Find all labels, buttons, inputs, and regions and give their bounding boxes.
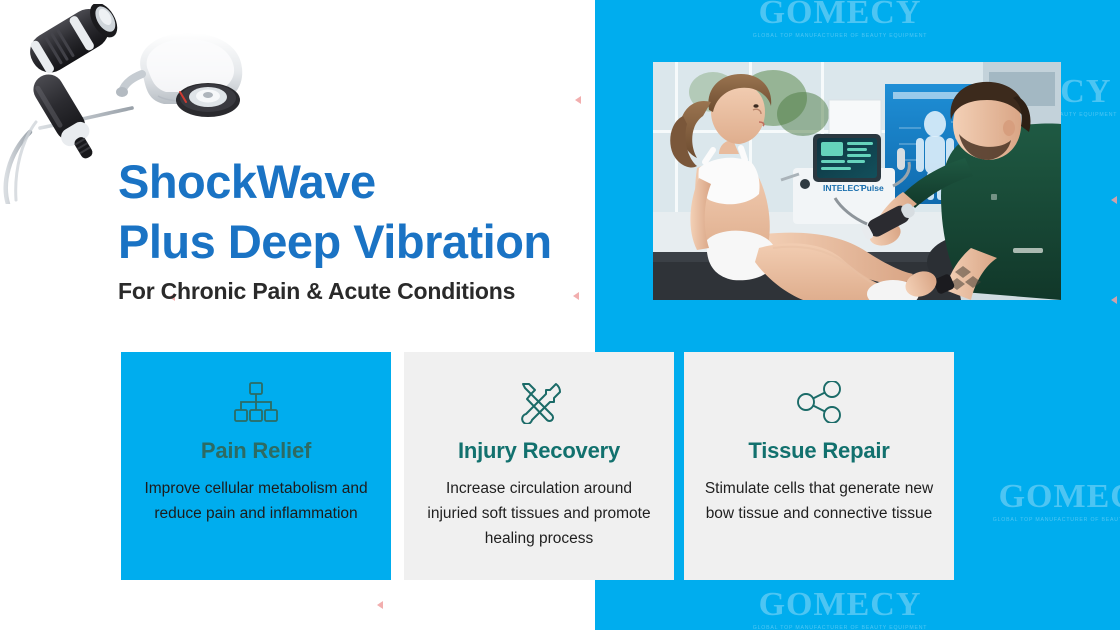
hierarchy-icon: [233, 376, 279, 428]
card-title: Injury Recovery: [458, 438, 620, 464]
svg-text:INTELECT: INTELECT: [823, 183, 865, 193]
decorative-speck: [575, 96, 581, 104]
card-title: Tissue Repair: [748, 438, 889, 464]
decorative-speck: [377, 601, 383, 609]
hero-title-line1: ShockWave: [118, 152, 618, 212]
card-title: Pain Relief: [201, 438, 311, 464]
svg-text:Pulse: Pulse: [861, 183, 884, 193]
card-description: Increase circulation around injuried sof…: [421, 476, 657, 551]
slide-canvas: GOMECY GLOBAL TOP MANUFACTURER OF BEAUTY…: [0, 0, 1120, 630]
feature-card-tissue-repair[interactable]: Tissue Repair Stimulate cells that gener…: [684, 352, 954, 580]
feature-card-pain-relief[interactable]: Pain Relief Improve cellular metabolism …: [121, 352, 391, 580]
decorative-speck: [1111, 196, 1117, 204]
hero-headline-block: ShockWave Plus Deep Vibration For Chroni…: [118, 152, 618, 305]
card-description: Stimulate cells that generate new bow ti…: [701, 476, 937, 526]
tools-icon: [516, 376, 562, 428]
hero-title-line2: Plus Deep Vibration: [118, 212, 618, 272]
hero-subtitle: For Chronic Pain & Acute Conditions: [118, 278, 618, 305]
share-nodes-icon: [795, 376, 843, 428]
clinic-photo: INTELECT Pulse: [653, 62, 1061, 300]
card-description: Improve cellular metabolism and reduce p…: [138, 476, 374, 526]
feature-card-injury-recovery[interactable]: Injury Recovery Increase circulation aro…: [404, 352, 674, 580]
decorative-speck: [1111, 296, 1117, 304]
